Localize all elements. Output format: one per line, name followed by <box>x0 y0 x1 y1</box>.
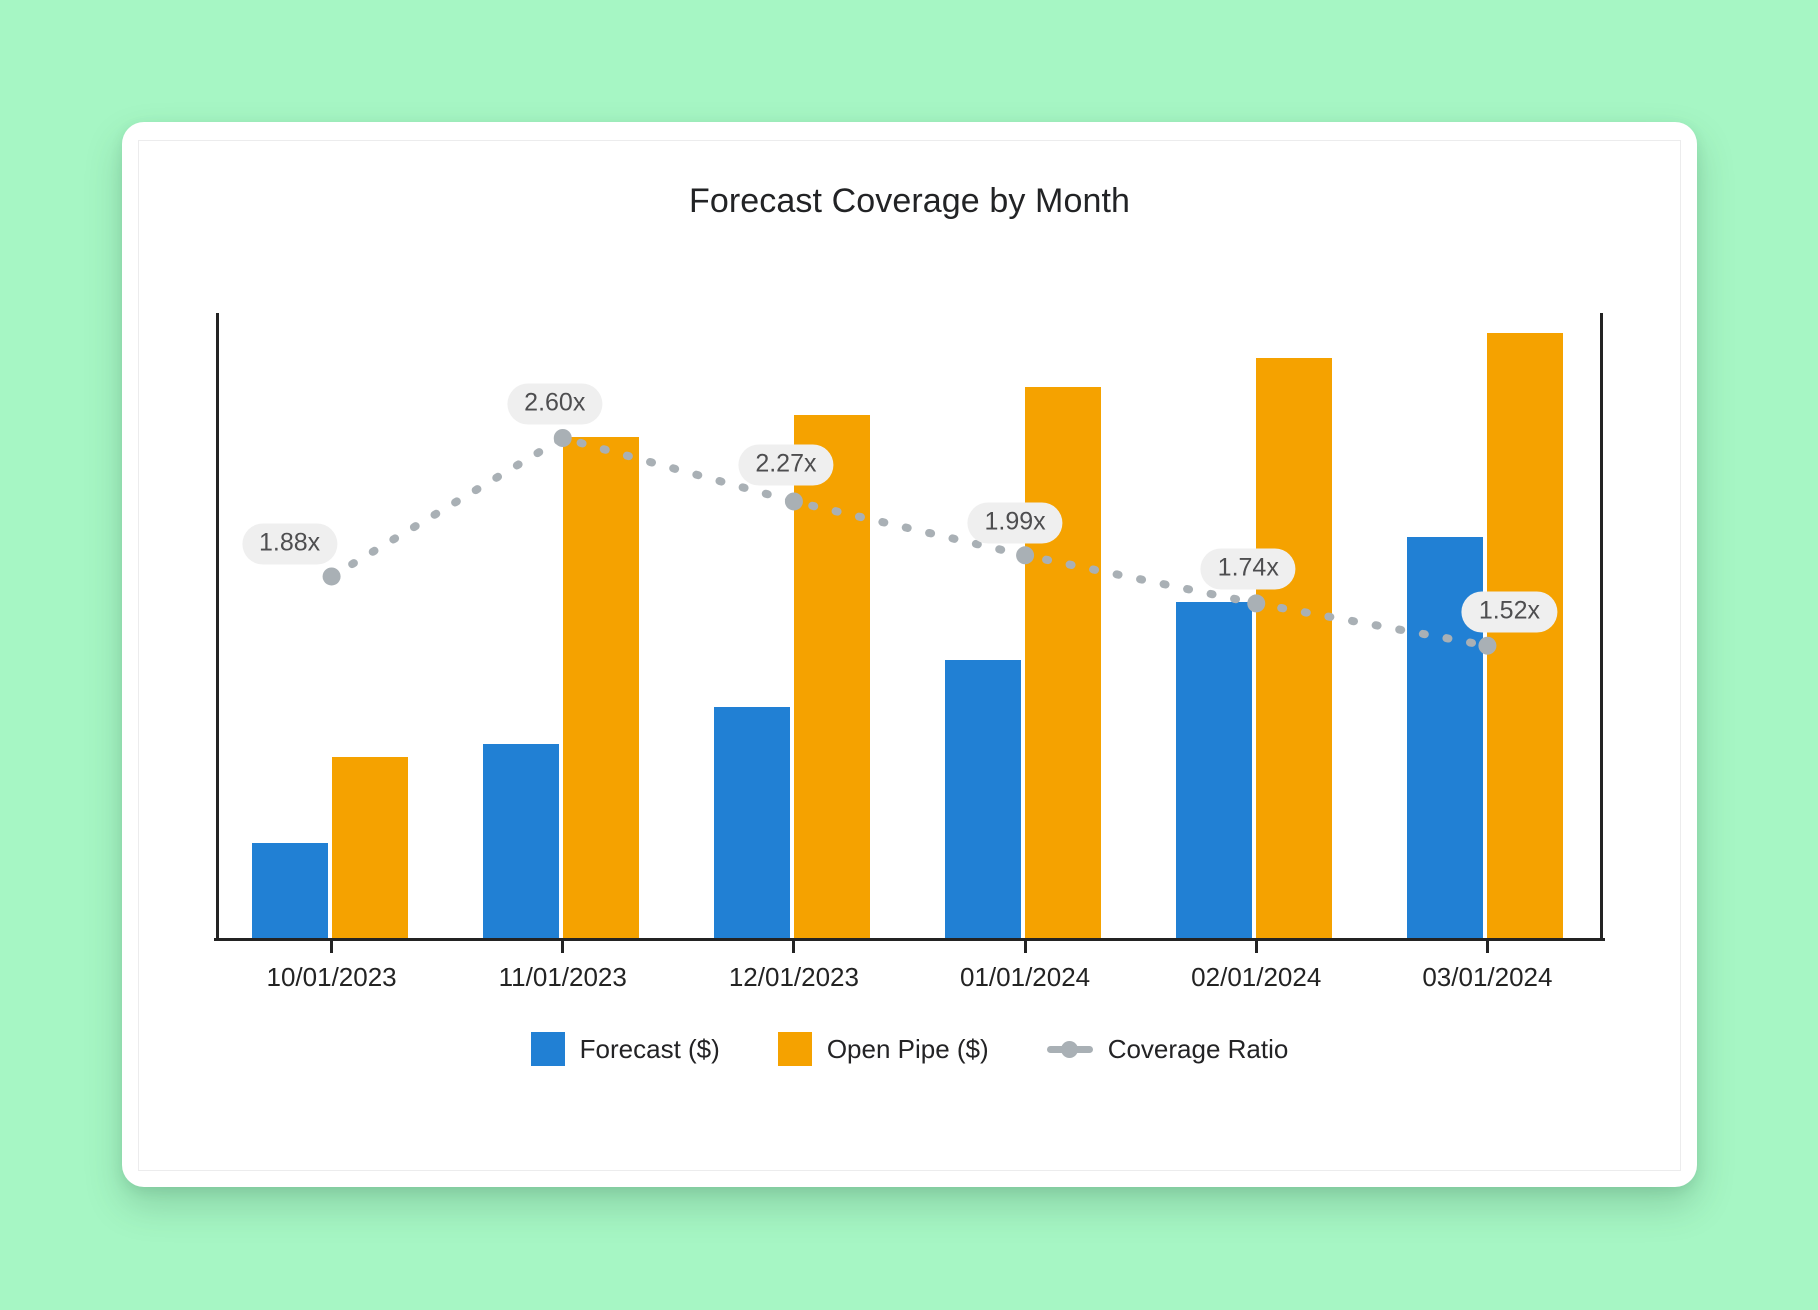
bar-open-pipe[interactable] <box>794 415 870 938</box>
y-axis-right-line <box>1600 313 1603 938</box>
coverage-ratio-data-label: 1.52x <box>1462 591 1557 632</box>
bar-open-pipe[interactable] <box>332 757 408 938</box>
legend-item-label: Coverage Ratio <box>1108 1034 1289 1065</box>
x-axis-tick-label: 11/01/2023 <box>499 962 627 993</box>
bar-open-pipe[interactable] <box>1256 358 1332 938</box>
y-axis-line <box>216 313 219 938</box>
bar-forecast[interactable] <box>714 707 790 938</box>
screenshot-root: Forecast Coverage by Month 1.88x2.60x2.2… <box>0 0 1818 1310</box>
x-axis-tick-label: 03/01/2024 <box>1422 962 1552 993</box>
x-axis-tick <box>330 938 333 953</box>
legend-item[interactable]: Coverage Ratio <box>1047 1032 1289 1066</box>
bar-forecast[interactable] <box>945 660 1021 938</box>
bar-forecast[interactable] <box>252 843 328 938</box>
bar-forecast[interactable] <box>1176 602 1252 938</box>
bar-forecast[interactable] <box>483 744 559 938</box>
x-axis-tick <box>1024 938 1027 953</box>
chart-card: Forecast Coverage by Month 1.88x2.60x2.2… <box>122 122 1697 1187</box>
coverage-ratio-line <box>216 313 1603 938</box>
bar-group <box>714 313 874 938</box>
x-axis-tick <box>561 938 564 953</box>
legend-line-marker-icon <box>1047 1032 1093 1066</box>
legend-item[interactable]: Forecast ($) <box>531 1032 720 1066</box>
x-axis-tick-label: 01/01/2024 <box>960 962 1090 993</box>
bar-group <box>252 313 412 938</box>
bar-open-pipe[interactable] <box>563 437 639 938</box>
legend-item-label: Forecast ($) <box>580 1034 720 1065</box>
legend-item[interactable]: Open Pipe ($) <box>778 1032 989 1066</box>
coverage-ratio-data-label: 2.60x <box>507 384 602 425</box>
coverage-ratio-data-label: 2.27x <box>738 445 833 486</box>
chart-legend: Forecast ($)Open Pipe ($)Coverage Ratio <box>122 1032 1697 1066</box>
legend-swatch-icon <box>531 1032 565 1066</box>
x-axis-tick <box>792 938 795 953</box>
x-axis-tick-label: 12/01/2023 <box>729 962 859 993</box>
coverage-ratio-data-label: 1.99x <box>967 503 1062 544</box>
page-title: Forecast Coverage by Month <box>122 182 1697 221</box>
x-axis-tick-label: 02/01/2024 <box>1191 962 1321 993</box>
x-axis-tick <box>1255 938 1258 953</box>
bar-open-pipe[interactable] <box>1025 387 1101 938</box>
bar-open-pipe[interactable] <box>1487 333 1563 938</box>
x-axis-tick-label: 10/01/2023 <box>267 962 397 993</box>
legend-swatch-icon <box>778 1032 812 1066</box>
x-axis-tick <box>1486 938 1489 953</box>
bar-group <box>1176 313 1336 938</box>
x-axis-line <box>214 938 1605 941</box>
coverage-ratio-data-label: 1.74x <box>1201 549 1296 590</box>
legend-item-label: Open Pipe ($) <box>827 1034 989 1065</box>
bar-group <box>945 313 1105 938</box>
plot-area: 1.88x2.60x2.27x1.99x1.74x1.52x 10/01/202… <box>216 313 1603 938</box>
coverage-ratio-data-label: 1.88x <box>242 524 337 565</box>
